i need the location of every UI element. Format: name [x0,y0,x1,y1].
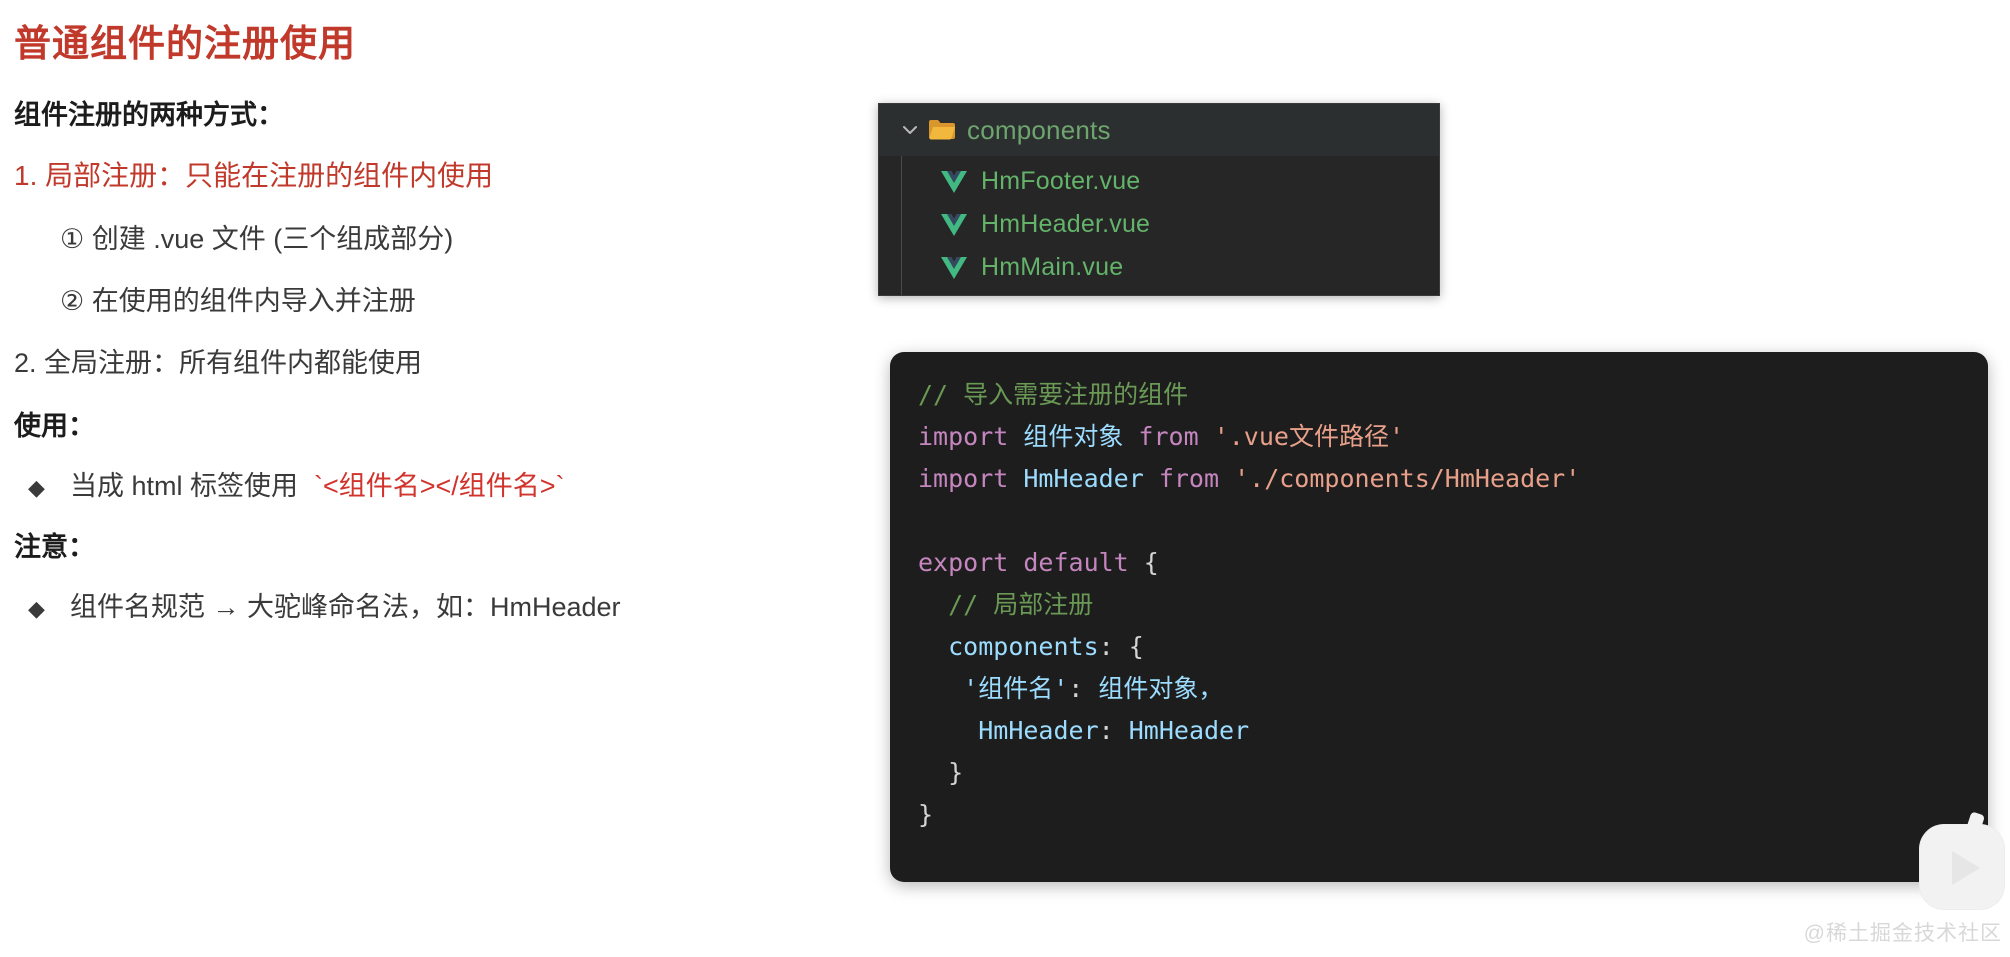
explorer-folder-row[interactable]: components [879,104,1439,156]
code-line: HmHeader: HmHeader [918,710,1988,752]
folder-open-icon [925,117,959,143]
watermark-text: @稀土掘金技术社区 [1804,917,2002,947]
chevron-down-icon[interactable] [895,120,925,140]
vue-file-icon [937,212,971,238]
code-token: // 局部注册 [918,590,1093,619]
code-token: './components/HmHeader' [1234,464,1580,493]
section-heading-registration-methods: 组件注册的两种方式： [14,99,864,131]
code-token: '.vue文件路径' [1214,422,1404,451]
code-line: import HmHeader from './components/HmHea… [918,458,1988,500]
code-token: from [1138,422,1213,451]
explorer-folder-label: components [967,115,1111,146]
list-item-create-vue-file: ① 创建 .vue 文件 (三个组成部分) [14,223,864,255]
code-line [918,500,1988,542]
code-line: } [918,794,1988,836]
explorer-file-list: HmFooter.vue HmHeader.vue HmMain.vue [879,156,1439,295]
code-token [918,716,978,745]
list-item-local-registration: 1. 局部注册：只能在注册的组件内使用 [14,159,864,193]
code-token: '组件名' [963,674,1068,703]
juejin-play-logo-icon [1920,825,2004,909]
diamond-bullet-icon: ◆ [14,596,70,622]
list-item[interactable]: HmFooter.vue [879,160,1439,203]
code-line: components: { [918,626,1988,668]
code-token: { [1144,548,1159,577]
code-token: HmHeader [978,716,1098,745]
vue-file-icon [937,169,971,195]
list-item-label: HmMain.vue [981,253,1123,282]
code-token: : { [1099,632,1144,661]
code-token [918,674,963,703]
code-line: // 导入需要注册的组件 [918,374,1988,416]
bullet-naming-convention: ◆ 组件名规范 → 大驼峰命名法，如：HmHeader [14,591,864,623]
code-token: : [1099,716,1129,745]
code-token: HmHeader [1129,716,1249,745]
notes-column: 普通组件的注册使用 组件注册的两种方式： 1. 局部注册：只能在注册的组件内使用… [14,24,864,651]
bullet-usage-html-tag: ◆ 当成 html 标签使用 `<组件名></组件名>` [14,470,864,502]
list-item-global-registration: 2. 全局注册：所有组件内都能使用 [14,347,864,379]
section-heading-notice: 注意： [14,531,864,563]
list-item-label: HmHeader.vue [981,210,1150,239]
code-token: HmHeader [1023,464,1158,493]
code-line: export default { [918,542,1988,584]
code-token: } [918,758,963,787]
indent-guide [901,156,902,295]
code-token: export default [918,548,1144,577]
diamond-bullet-icon: ◆ [14,475,70,501]
list-item[interactable]: HmHeader.vue [879,203,1439,246]
list-item-import-and-register: ② 在使用的组件内导入并注册 [14,285,864,317]
code-token [918,506,933,535]
inline-code-component-tag: `<组件名></组件名>` [314,470,565,502]
code-token: 组件对象 [1023,422,1138,451]
bullet-usage-label: 当成 html 标签使用 [70,470,298,502]
code-token [918,632,948,661]
section-heading-usage: 使用： [14,410,864,442]
code-line: '组件名': 组件对象， [918,668,1988,710]
code-token: : [1068,674,1098,703]
code-token: 组件对象， [1098,674,1223,703]
list-item-label: HmFooter.vue [981,167,1140,196]
page-title: 普通组件的注册使用 [14,24,864,65]
list-item[interactable]: HmMain.vue [879,246,1439,289]
code-token: from [1159,464,1234,493]
code-line: import 组件对象 from '.vue文件路径' [918,416,1988,458]
code-token: import [918,464,1023,493]
code-token: // 导入需要注册的组件 [918,380,1188,409]
code-token: } [918,800,933,829]
code-line: // 局部注册 [918,584,1988,626]
file-explorer-panel[interactable]: components HmFooter.vue HmHeader.vue [878,103,1440,296]
vue-file-icon [937,255,971,281]
code-block[interactable]: // 导入需要注册的组件import 组件对象 from '.vue文件路径'i… [890,352,1988,882]
code-line: } [918,752,1988,794]
code-token: components [948,632,1099,661]
code-token: import [918,422,1023,451]
bullet-naming-label: 组件名规范 → 大驼峰命名法，如：HmHeader [70,591,621,623]
